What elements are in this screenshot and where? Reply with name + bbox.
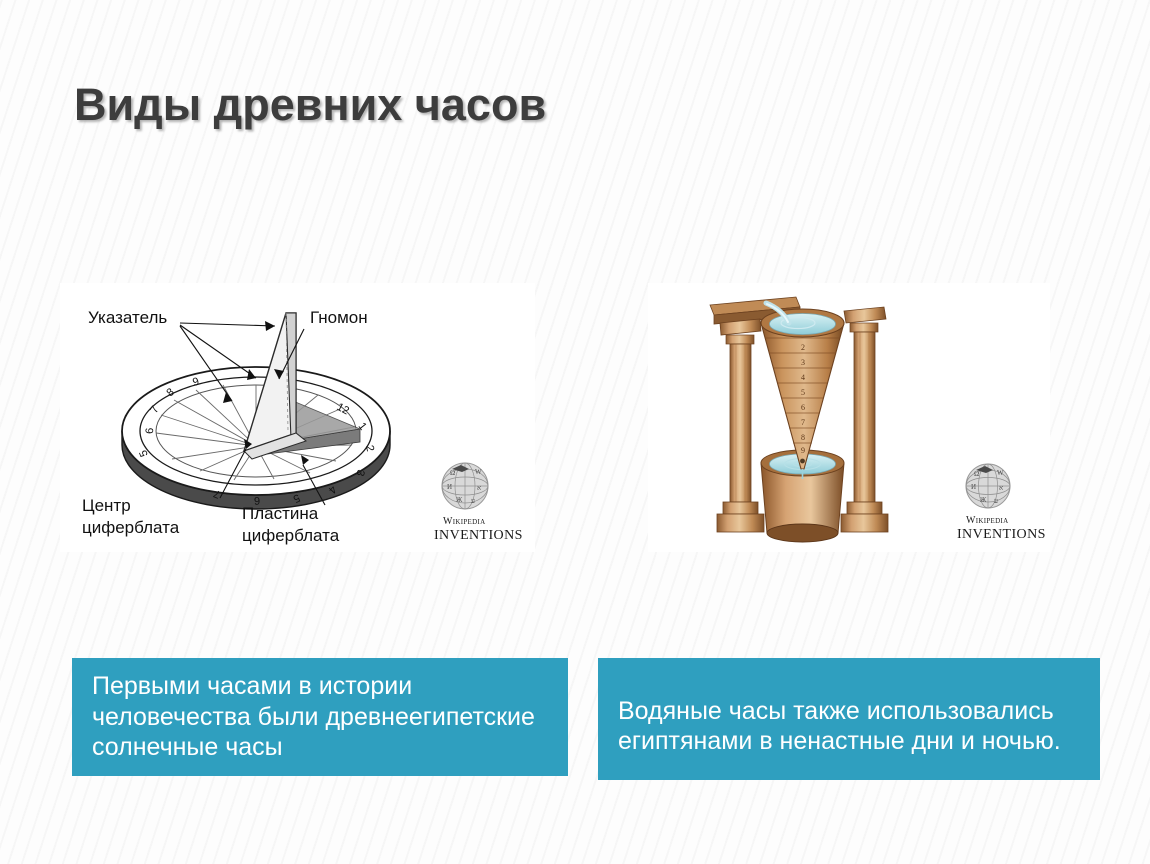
caption-text-water-clock: Водяные часы также использовались египтя… xyxy=(618,682,1086,757)
svg-text:ע: ע xyxy=(471,497,475,505)
svg-text:8: 8 xyxy=(801,433,805,442)
svg-text:Ж: Ж xyxy=(456,496,463,504)
watermark-wikipedia-text: Wikipedia xyxy=(443,516,485,527)
watermark-inventions-text: INVENTIONS xyxy=(957,527,1046,542)
sundial-label-center-2: циферблата xyxy=(82,518,180,537)
sundial-label-pointer: Указатель xyxy=(88,308,167,327)
caption-box-sundial[interactable]: Первыми часами в истории человечества бы… xyxy=(72,658,568,776)
sundial-label-gnomon: Гномон xyxy=(310,308,368,327)
svg-text:Ω: Ω xyxy=(974,470,979,478)
svg-text:6: 6 xyxy=(801,403,805,412)
svg-text:W: W xyxy=(475,468,482,476)
presentation-slide: Виды древних часов xyxy=(0,0,1150,864)
svg-text:5: 5 xyxy=(801,388,805,397)
svg-text:א: א xyxy=(477,484,481,492)
page-title: Виды древних часов xyxy=(74,79,546,131)
svg-text:W: W xyxy=(997,469,1004,477)
svg-text:א: א xyxy=(999,484,1003,492)
watermark-wikipedia-text: Wikipedia xyxy=(966,515,1008,526)
caption-box-water-clock[interactable]: Водяные часы также использовались египтя… xyxy=(598,658,1100,780)
sundial-label-plate-1: Пластина xyxy=(242,504,319,523)
svg-text:ע: ע xyxy=(994,497,998,505)
watermark-inventions-text: INVENTIONS xyxy=(434,528,523,543)
sundial-diagram: 12 1 2 3 4 5 6 7 6 7 8 9 5 xyxy=(60,283,535,552)
svg-text:2: 2 xyxy=(801,343,805,352)
caption-text-sundial: Первыми часами в истории человечества бы… xyxy=(92,671,554,763)
water-clock-illustration: 1 2 3 4 5 6 7 8 9 xyxy=(648,283,1050,552)
sundial-label-center-1: Центр xyxy=(82,496,131,515)
sundial-label-plate-2: циферблата xyxy=(242,526,340,545)
svg-text:И: И xyxy=(971,483,976,491)
svg-text:Ω: Ω xyxy=(450,469,455,477)
svg-text:7: 7 xyxy=(801,418,805,427)
svg-text:4: 4 xyxy=(801,373,805,382)
svg-text:6: 6 xyxy=(144,428,156,435)
svg-text:Ж: Ж xyxy=(980,496,987,504)
svg-text:3: 3 xyxy=(801,358,805,367)
figure-water-clock[interactable]: 1 2 3 4 5 6 7 8 9 xyxy=(648,283,1050,552)
svg-text:И: И xyxy=(447,483,452,491)
figure-sundial[interactable]: 12 1 2 3 4 5 6 7 6 7 8 9 5 xyxy=(60,283,535,552)
svg-text:9: 9 xyxy=(801,446,805,455)
